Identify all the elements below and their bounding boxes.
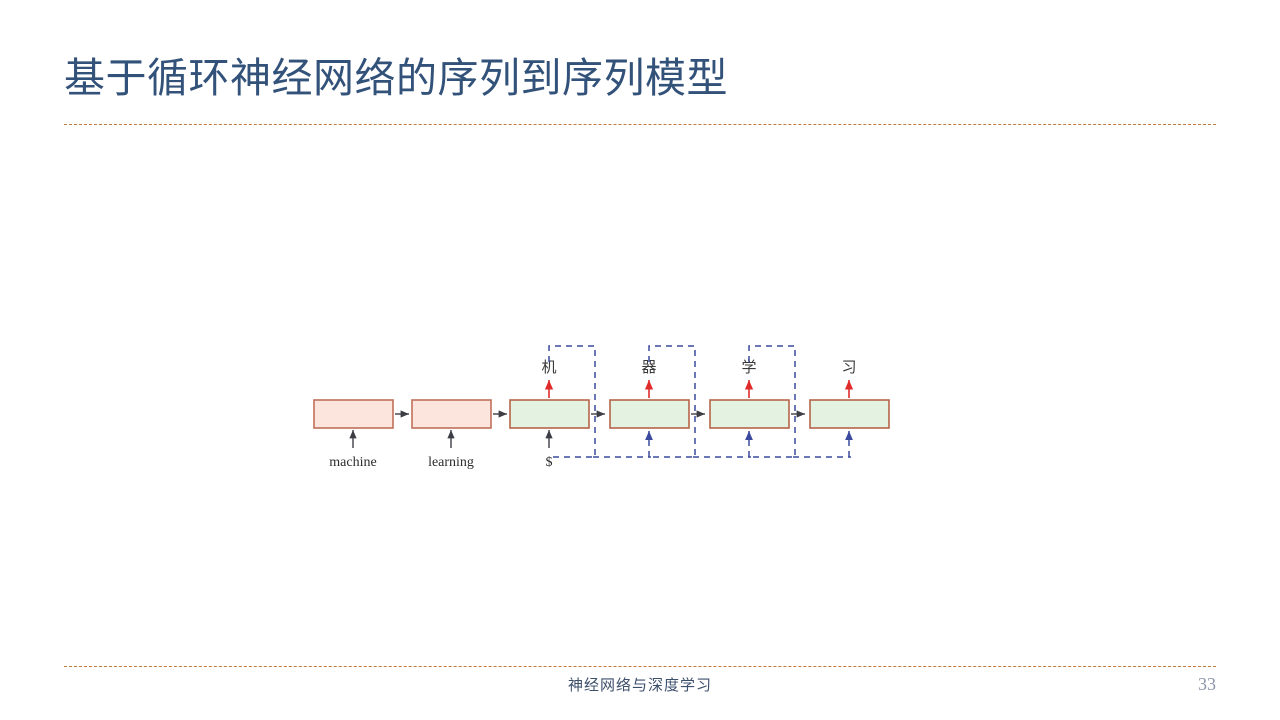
decoder-cell-box — [810, 400, 889, 428]
footer-title: 神经网络与深度学习 — [0, 674, 1280, 695]
seq2seq-rnn-diagram: machine learning 机 $ — [290, 330, 930, 480]
decoder-input-label: $ — [546, 455, 553, 470]
footer-divider-rule — [64, 666, 1216, 667]
page-title: 基于循环神经网络的序列到序列模型 — [64, 50, 1224, 106]
decoder-cell-box — [510, 400, 589, 428]
encoder-cell-2: learning — [412, 400, 491, 470]
title-block: 基于循环神经网络的序列到序列模型 — [64, 50, 1224, 110]
encoder-cell-box — [314, 400, 393, 428]
title-divider-rule — [64, 124, 1216, 125]
slide-canvas: 基于循环神经网络的序列到序列模型 machine — [0, 0, 1280, 720]
encoder-input-label: machine — [329, 455, 376, 470]
decoder-output-label: 器 — [641, 360, 656, 376]
encoder-cell-box — [412, 400, 491, 428]
decoder-cell-box — [610, 400, 689, 428]
encoder-input-label: learning — [428, 455, 474, 470]
decoder-cell-4: 习 — [810, 360, 889, 428]
encoder-cell-1: machine — [314, 400, 393, 470]
decoder-cell-box — [710, 400, 789, 428]
page-number: 33 — [1198, 674, 1216, 695]
decoder-output-label: 习 — [841, 360, 856, 376]
